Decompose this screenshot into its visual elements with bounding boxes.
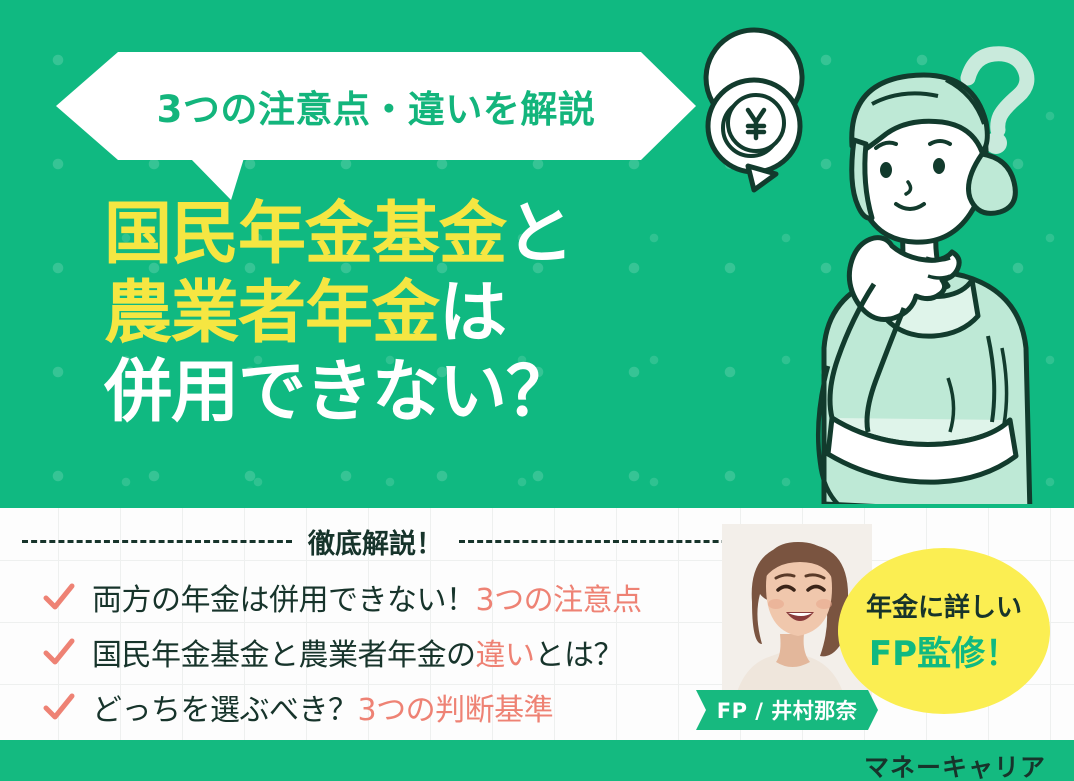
title-line-1-highlight: 国民年金基金 <box>104 195 506 274</box>
section-headline: 徹底解説！ <box>308 522 443 561</box>
list-item-2-pre: 国民年金基金と農業者年金の <box>92 638 476 673</box>
list-item-1-pre: 両方の年金は併用できない！ <box>92 583 476 618</box>
title-line-1-plain: と <box>506 195 573 274</box>
yen-coin-speech-bubble <box>706 30 802 190</box>
dashed-rule-left <box>22 540 292 543</box>
title-line-1: 国民年金基金と <box>104 198 724 273</box>
list-item-2-highlight: 違い <box>476 638 535 673</box>
badge-bottom-label: FP監修！ <box>869 626 1019 675</box>
title-line-2-highlight: 農業者年金 <box>104 274 439 353</box>
title-line-3: 併用できない？ <box>104 356 724 431</box>
woman-head <box>852 75 1016 242</box>
section-header: 徹底解説！ <box>22 524 782 558</box>
eye-right <box>933 158 945 174</box>
list-item-text: どっちを選ぶべき？3つの判断基準 <box>92 685 553 729</box>
infographic-canvas: 3つの注意点・違いを解説 国民年金基金と 農業者年金は 併用できない？ <box>0 0 1074 781</box>
brand-logo: マネーキャリア <box>864 748 1046 781</box>
eye-left <box>880 162 892 178</box>
check-icon <box>42 580 76 614</box>
ribbon-banner: 3つの注意点・違いを解説 <box>56 52 696 182</box>
list-item-3-pre: どっちを選ぶべき？ <box>92 693 358 728</box>
check-icon <box>42 635 76 669</box>
check-icon <box>42 690 76 724</box>
title-line-2-plain: は <box>439 274 506 353</box>
list-item-text: 両方の年金は併用できない！3つの注意点 <box>92 575 642 619</box>
title-line-2: 農業者年金は <box>104 277 724 352</box>
list-item-2-post: とは？ <box>535 638 624 673</box>
badge-top-label: 年金に詳しい <box>866 587 1022 624</box>
hero-section: 3つの注意点・違いを解説 国民年金基金と 農業者年金は 併用できない？ <box>0 0 1074 508</box>
thinking-woman-illustration <box>696 18 1068 504</box>
list-item-text: 国民年金基金と農業者年金の違いとは？ <box>92 630 623 674</box>
fp-name-label: FP / 井村那奈 <box>717 695 858 725</box>
list-item: 国民年金基金と農業者年金の違いとは？ <box>42 627 722 677</box>
list-item-3-highlight: 3つの判断基準 <box>358 693 554 728</box>
ribbon-label: 3つの注意点・違いを解説 <box>56 52 696 160</box>
title-line-3-plain: 併用できない？ <box>104 353 573 432</box>
fp-name-ribbon: FP / 井村那奈 <box>696 690 878 730</box>
list-item: どっちを選ぶべき？3つの判断基準 <box>42 682 722 732</box>
bullet-list: 両方の年金は併用できない！3つの注意点 国民年金基金と農業者年金の違いとは？ ど… <box>42 572 722 737</box>
page-title: 国民年金基金と 農業者年金は 併用できない？ <box>104 198 724 430</box>
list-item: 両方の年金は併用できない！3つの注意点 <box>42 572 722 622</box>
fp-supervision-badge: 年金に詳しい FP監修！ <box>838 548 1050 714</box>
list-item-1-highlight: 3つの注意点 <box>476 583 642 618</box>
